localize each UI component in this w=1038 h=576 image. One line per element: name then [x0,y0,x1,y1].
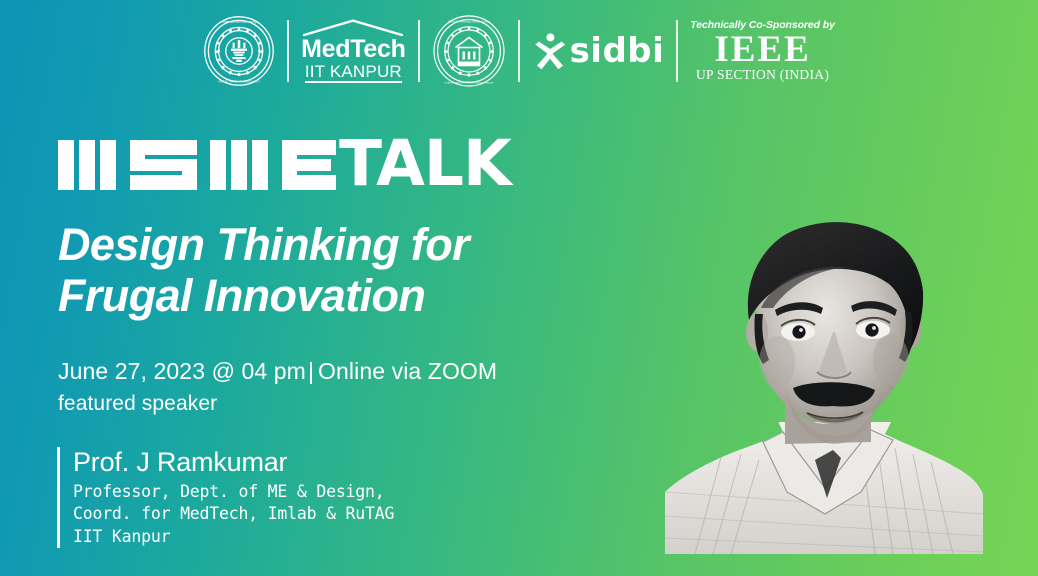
sidbi-wordmark: sidbi [570,31,665,71]
talk-word: TALK [339,138,511,190]
event-separator: | [306,358,318,384]
speaker-accent-rule [57,447,60,548]
medtech-roof-icon [303,19,403,36]
sidbi-figure-icon [532,31,568,71]
svg-text:Rural Technology Action Group: Rural Technology Action Group [448,20,490,24]
logo-iit-kanpur: भारतीय प्रौद्योगिकी संस्थान कानपुर INSTI… [191,11,287,91]
rutag-seal-icon: Rural Technology Action Group Indian Ins… [432,14,506,88]
event-datetime-row: June 27, 2023 @ 04 pm|Online via ZOOM [58,358,497,385]
speaker-name: Prof. J Ramkumar [73,447,394,479]
svg-text:Indian Institute of Technology: Indian Institute of Technology Kanpur [444,80,493,84]
medtech-subtitle: IIT KANPUR [305,63,402,83]
medtech-title: MedTech [301,37,405,62]
logo-rutag: Rural Technology Action Group Indian Ins… [420,11,518,91]
logo-ieee: Technically Co-Sponsored by IEEE UP SECT… [678,11,847,91]
speaker-affiliation-line: Coord. for MedTech, Imlab & RuTAG [73,503,394,525]
iit-kanpur-seal-icon: भारतीय प्रौद्योगिकी संस्थान कानपुर INSTI… [203,15,275,87]
poster-subtitle: Design Thinking for Frugal Innovation [58,219,618,322]
msme-logotype [58,134,336,190]
speaker-details: Prof. J Ramkumar Professor, Dept. of ME … [73,447,394,548]
logo-bar: भारतीय प्रौद्योगिकी संस्थान कानपुर INSTI… [0,11,1038,91]
svg-text:भारतीय प्रौद्योगिकी संस्थान का: भारतीय प्रौद्योगिकी संस्थान कानपुर [221,20,258,24]
event-datetime: June 27, 2023 @ 04 pm [58,358,306,384]
svg-text:INSTITUTE OF TECHNOLOGY: INSTITUTE OF TECHNOLOGY [218,80,260,84]
logo-sidbi: sidbi [520,11,677,91]
featured-speaker-label: featured speaker [58,392,217,416]
event-mode: Online via ZOOM [318,358,497,384]
subtitle-line-2: Frugal Innovation [58,270,618,321]
speaker-affiliation-line: IIT Kanpur [73,526,394,548]
ieee-section-label: UP SECTION (INDIA) [696,68,829,82]
subtitle-line-1: Design Thinking for [58,219,618,270]
logo-medtech: MedTech IIT KANPUR [289,11,417,91]
poster-title: TALK [58,134,511,190]
speaker-affiliation-line: Professor, Dept. of ME & Design, [73,481,394,503]
event-poster: भारतीय प्रौद्योगिकी संस्थान कानपुर INSTI… [0,0,1038,576]
speaker-block: Prof. J Ramkumar Professor, Dept. of ME … [57,447,394,548]
speaker-photo [665,192,983,554]
ieee-wordmark: IEEE [714,32,810,67]
